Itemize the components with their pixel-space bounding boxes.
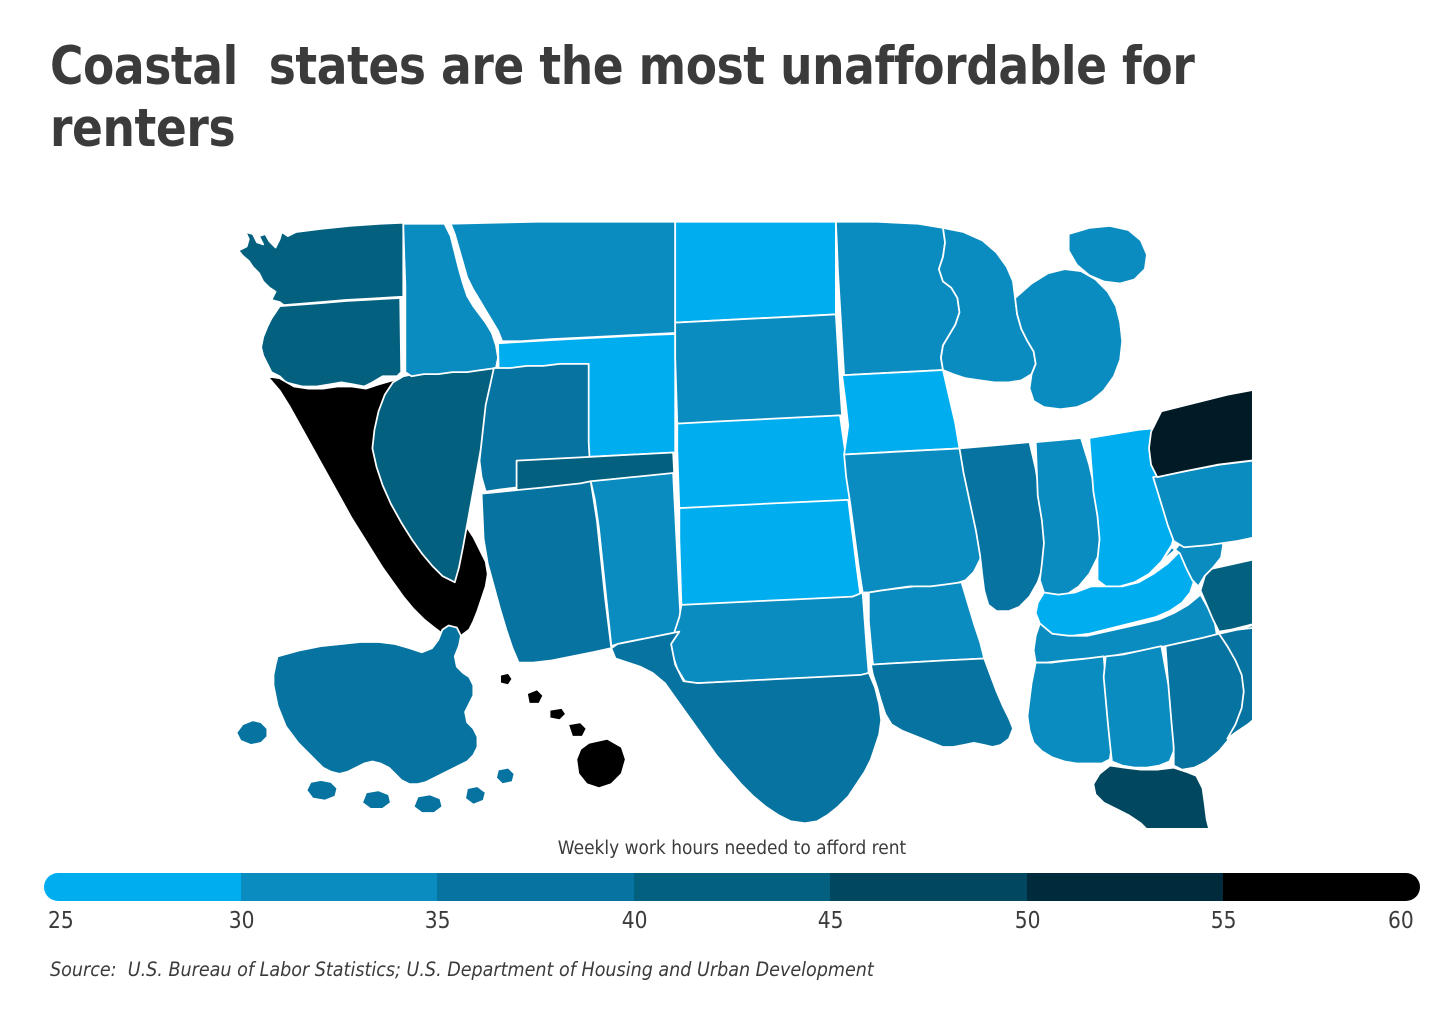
legend-tick-60: 60 (1388, 908, 1414, 934)
state-ny[interactable]: New York: 55 (1149, 376, 1252, 477)
state-ne[interactable]: Nebraska: 29 (677, 415, 852, 508)
legend: Weekly work hours needed to afford rent … (44, 838, 1420, 938)
chart-page: Coastal states are the most unaffordable… (0, 0, 1450, 1012)
page-title: Coastal states are the most unaffordable… (50, 36, 1220, 160)
state-ok[interactable]: Oklahoma: 31 (671, 593, 869, 686)
legend-tick-45: 45 (818, 908, 844, 934)
legend-band-2 (437, 873, 634, 901)
legend-tick-labels: 2530354045505560 (44, 908, 1420, 938)
legend-tick-30: 30 (228, 908, 254, 934)
source-note: Source: U.S. Bureau of Labor Statistics;… (50, 958, 874, 981)
state-la[interactable]: Louisiana: 38 (871, 658, 1013, 747)
state-ks[interactable]: Kansas: 29 (679, 500, 860, 605)
legend-band-3 (634, 873, 831, 901)
state-fl[interactable]: Florida: 47 (1093, 766, 1229, 828)
legend-band-4 (830, 873, 1027, 901)
state-al[interactable]: Alabama: 33 (1104, 646, 1174, 768)
state-ak[interactable]: Alaska: 38 (236, 625, 514, 812)
legend-tick-35: 35 (425, 908, 451, 934)
state-mn[interactable]: Minnesota: 34 (836, 222, 960, 375)
choropleth-map: Washington: 44Oregon: 44California: 60Ne… (222, 218, 1252, 828)
legend-color-bar (44, 873, 1420, 901)
state-hi[interactable]: Hawaii: 60 (500, 673, 626, 788)
state-az[interactable]: Arizona: 38 (482, 481, 612, 662)
state-nd[interactable]: North Dakota: 27 (675, 222, 836, 323)
legend-tick-50: 50 (1015, 908, 1041, 934)
legend-band-5 (1027, 873, 1224, 901)
state-ia[interactable]: Iowa: 28 (842, 370, 959, 454)
us-states-svg: Washington: 44Oregon: 44California: 60Ne… (222, 218, 1252, 828)
legend-tick-25: 25 (48, 908, 74, 934)
state-ms[interactable]: Mississippi: 32 (1027, 656, 1111, 763)
state-sd[interactable]: South Dakota: 32 (675, 314, 842, 423)
state-mi[interactable]: Michigan: 33 (1015, 226, 1147, 409)
legend-band-6 (1223, 873, 1420, 901)
legend-band-0 (44, 873, 241, 901)
state-ar[interactable]: Arkansas: 32 (869, 582, 984, 664)
state-or[interactable]: Oregon: 44 (261, 298, 401, 387)
state-wa[interactable]: Washington: 44 (238, 223, 403, 305)
legend-tick-40: 40 (621, 908, 647, 934)
legend-title: Weekly work hours needed to afford rent (99, 838, 1365, 859)
legend-band-1 (241, 873, 438, 901)
legend-tick-55: 55 (1211, 908, 1237, 934)
